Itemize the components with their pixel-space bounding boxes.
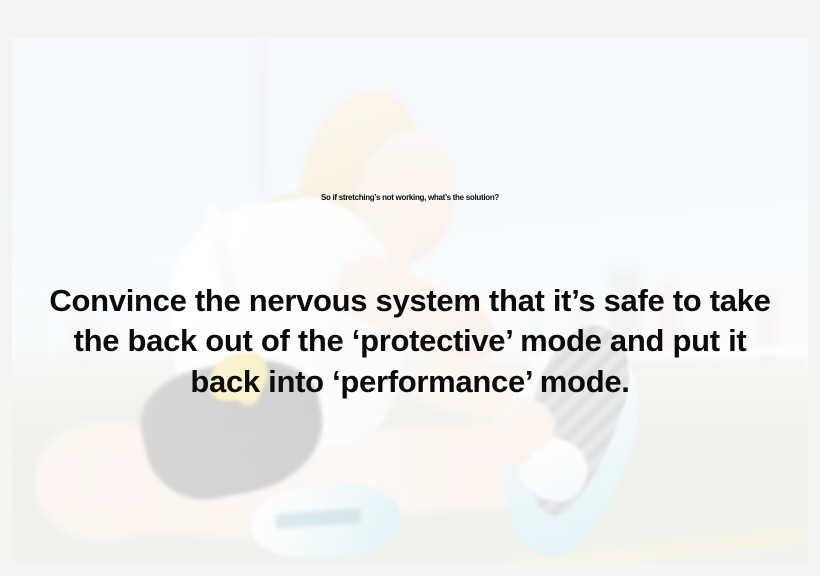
body-line-2: the back out of the ‘protective’ mode an… xyxy=(32,321,788,361)
slide-canvas: So if stretching’s not working, what’s t… xyxy=(0,0,820,576)
text-overlay: So if stretching’s not working, what’s t… xyxy=(12,38,808,564)
body-line-3: back into ‘performance’ mode. xyxy=(32,362,788,402)
body-copy: Convince the nervous system that it’s sa… xyxy=(32,281,788,402)
headline-question: So if stretching’s not working, what’s t… xyxy=(12,194,808,202)
body-line-1: Convince the nervous system that it’s sa… xyxy=(32,281,788,321)
